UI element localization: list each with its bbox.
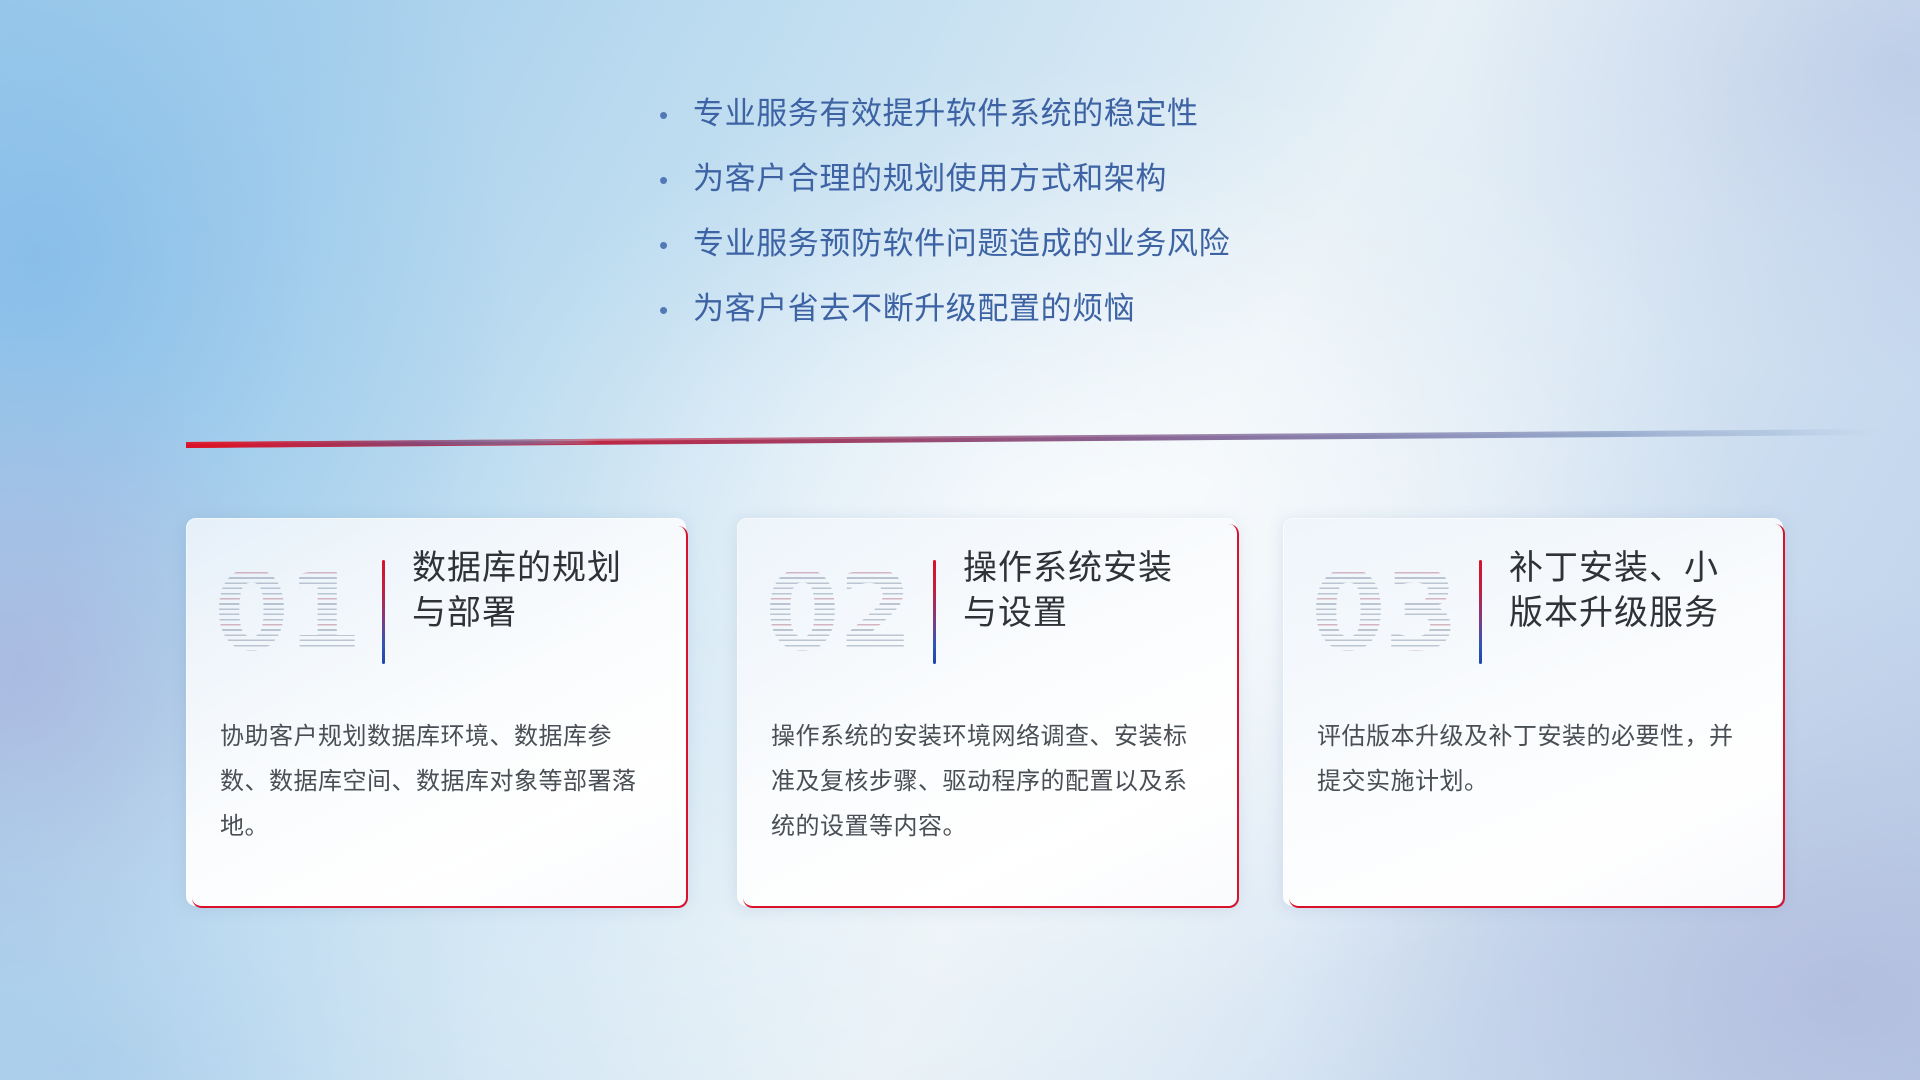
card-title: 操作系统安装 与设置: [963, 546, 1217, 636]
bullet-text-1: 专业服务有效提升软件系统的稳定性: [693, 88, 1199, 133]
bullet-item-2: • 为客户合理的规划使用方式和架构: [655, 153, 1475, 218]
bullet-text-4: 为客户省去不断升级配置的烦恼: [693, 283, 1135, 328]
bullet-item-3: • 专业服务预防软件问题造成的业务风险: [655, 218, 1475, 283]
card-title-line-1: 补丁安装、小: [1509, 546, 1763, 591]
card-body-text: 评估版本升级及补丁安装的必要性，并提交实施计划。: [1317, 714, 1753, 804]
card-number-red-tint: 01: [212, 546, 362, 678]
benefits-bullet-list: • 专业服务有效提升软件系统的稳定性 • 为客户合理的规划使用方式和架构 • 专…: [655, 88, 1475, 348]
bullet-text-3: 专业服务预防软件问题造成的业务风险: [693, 218, 1230, 263]
card-body-text: 操作系统的安装环境网络调查、安装标准及复核步骤、驱动程序的配置以及系统的设置等内…: [771, 714, 1207, 849]
card-header: 01 01 数据库的规划 与部署: [186, 536, 686, 686]
service-card-03[interactable]: 03 03 补丁安装、小 版本升级服务 评估版本升级及补丁安装的必要性，并提交实…: [1283, 518, 1783, 906]
card-number-watermark: 02 02: [763, 546, 913, 678]
bullet-dot-icon: •: [655, 102, 693, 128]
card-title-line-2: 与设置: [963, 591, 1217, 636]
card-title-divider-bar: [1479, 560, 1482, 664]
bullet-text-2: 为客户合理的规划使用方式和架构: [693, 153, 1167, 198]
card-number-watermark: 01 01: [212, 546, 362, 678]
card-number-red-tint: 02: [763, 546, 913, 678]
card-number-striped-glyph: 03: [1309, 546, 1459, 678]
card-header: 03 03 补丁安装、小 版本升级服务: [1283, 536, 1783, 686]
card-title-line-2: 与部署: [412, 591, 666, 636]
card-title-line-2: 版本升级服务: [1509, 591, 1763, 636]
section-divider: [0, 404, 1920, 456]
card-number-striped-glyph: 01: [212, 546, 362, 678]
bullet-dot-icon: •: [655, 232, 693, 258]
card-title-divider-bar: [382, 560, 385, 664]
card-title: 补丁安装、小 版本升级服务: [1509, 546, 1763, 636]
card-number-watermark: 03 03: [1309, 546, 1459, 678]
bullet-item-4: • 为客户省去不断升级配置的烦恼: [655, 283, 1475, 348]
service-card-01[interactable]: 01 01 数据库的规划 与部署 协助客户规划数据库环境、数据库参数、数据库空间…: [186, 518, 686, 906]
card-title: 数据库的规划 与部署: [412, 546, 666, 636]
card-header: 02 02 操作系统安装 与设置: [737, 536, 1237, 686]
bullet-dot-icon: •: [655, 297, 693, 323]
card-title-divider-bar: [933, 560, 936, 664]
card-body-text: 协助客户规划数据库环境、数据库参数、数据库空间、数据库对象等部署落地。: [220, 714, 656, 849]
card-number-red-tint: 03: [1309, 546, 1459, 678]
service-card-list: 01 01 数据库的规划 与部署 协助客户规划数据库环境、数据库参数、数据库空间…: [0, 518, 1920, 938]
bullet-item-1: • 专业服务有效提升软件系统的稳定性: [655, 88, 1475, 153]
card-title-line-1: 操作系统安装: [963, 546, 1217, 591]
bullet-dot-icon: •: [655, 167, 693, 193]
card-number-striped-glyph: 02: [763, 546, 913, 678]
service-card-02[interactable]: 02 02 操作系统安装 与设置 操作系统的安装环境网络调查、安装标准及复核步骤…: [737, 518, 1237, 906]
card-title-line-1: 数据库的规划: [412, 546, 666, 591]
